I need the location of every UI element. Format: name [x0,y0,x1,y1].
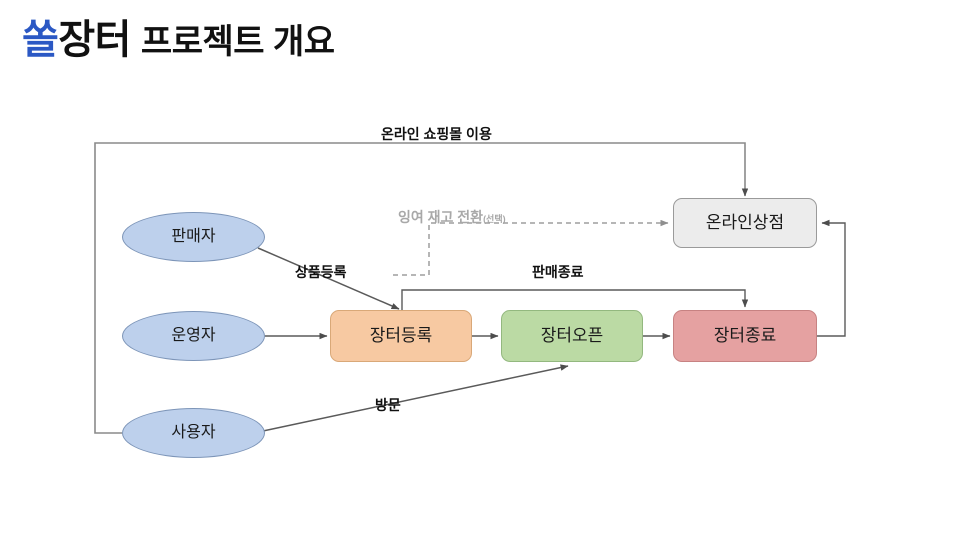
process-close[interactable]: 장터종료 [673,310,817,362]
actor-operator-label: 운영자 [171,327,215,345]
edge-sale-end [402,290,745,310]
process-close-label: 장터종료 [714,327,777,346]
process-register[interactable]: 장터등록 [330,310,472,362]
edge-label-visit-text: 방문 [375,397,401,413]
slide-canvas: 쏠장터프로젝트 개요 판매자 [0,0,960,540]
process-open-label: 장터오픈 [541,327,604,346]
edge-close-to-onlinestore [817,223,845,336]
process-register-label: 장터등록 [370,327,433,346]
actor-user-label: 사용자 [171,424,215,442]
edge-label-shopping-mall-use-text: 온라인 쇼핑몰 이용 [381,126,492,142]
edge-label-shopping-mall-use: 온라인 쇼핑몰 이용 [381,127,492,141]
edge-surplus-stock [393,223,668,275]
edge-label-visit: 방문 [375,398,401,412]
connector-layer [0,0,960,540]
edge-label-product-register: 상품등록 [295,265,347,279]
process-open[interactable]: 장터오픈 [501,310,643,362]
edge-label-surplus-stock-suffix: (선택) [483,214,506,224]
edge-label-surplus-stock: 잉여 재고 전환(선택) [398,210,506,224]
edge-shopping-mall-use [95,143,745,433]
edge-label-sale-end-text: 판매종료 [532,264,584,280]
title-subtitle: 프로젝트 개요 [141,23,335,61]
edge-label-product-register-text: 상품등록 [295,264,347,280]
page-title: 쏠장터프로젝트 개요 [22,16,335,64]
actor-seller-label: 판매자 [171,228,215,246]
edge-label-sale-end: 판매종료 [532,265,584,279]
actor-operator[interactable]: 운영자 [122,311,265,361]
process-onlinestore[interactable]: 온라인상점 [673,198,817,248]
title-brand: 쏠 [22,18,58,62]
process-onlinestore-label: 온라인상점 [706,214,784,233]
actor-seller[interactable]: 판매자 [122,212,265,262]
actor-user[interactable]: 사용자 [122,408,265,458]
edge-visit [263,366,568,431]
edge-label-surplus-stock-text: 잉여 재고 전환 [398,209,483,225]
title-rest: 장터 [58,18,131,62]
